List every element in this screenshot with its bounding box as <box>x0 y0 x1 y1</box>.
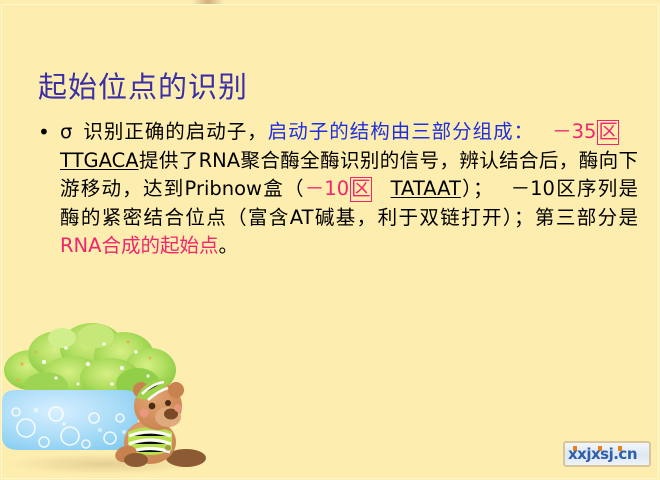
text-sigma: σ <box>60 120 72 143</box>
text-pink-minus35: －35 <box>552 120 596 143</box>
watermark-inner: xxjxsj.cn <box>565 443 649 465</box>
text-pink-minus10: －10 <box>305 177 349 200</box>
text-underline-ttgaca: TTGACA <box>60 149 139 172</box>
text-underline-tataat: TATAAT <box>391 177 461 200</box>
body-content: • σ识别正确的启动子，启动子的结构由三部分组成：－35区TTGACA提供了RN… <box>38 118 638 261</box>
top-edge-smudge <box>192 0 224 4</box>
watermark-badge: xxjxsj.cn <box>563 441 651 467</box>
teddy-bear-with-planter-illustration <box>0 318 232 480</box>
text-black-c: ）； <box>461 177 493 200</box>
bullet-marker: • <box>38 118 60 147</box>
slide-canvas: 起始位点的识别 • σ识别正确的启动子，启动子的结构由三部分组成：－35区TTG… <box>0 0 660 480</box>
bullet-text: σ识别正确的启动子，启动子的结构由三部分组成：－35区TTGACA提供了RNA聚… <box>60 118 638 261</box>
boxed-qu-char-10: 区 <box>350 177 372 202</box>
boxed-qu-char-35: 区 <box>597 120 619 145</box>
text-black-a: 识别正确的启动子， <box>82 120 267 143</box>
watermark-text: xxjxsj.cn <box>568 445 637 464</box>
text-blue-promoter-structure: 启动子的结构由三部分组成： <box>268 120 534 143</box>
text-pink-initiation-site: RNA合成的起始点 <box>60 234 218 257</box>
text-black-e: 。 <box>218 234 238 257</box>
page-title: 起始位点的识别 <box>38 70 248 104</box>
list-item: • σ识别正确的启动子，启动子的结构由三部分组成：－35区TTGACA提供了RN… <box>38 118 638 261</box>
